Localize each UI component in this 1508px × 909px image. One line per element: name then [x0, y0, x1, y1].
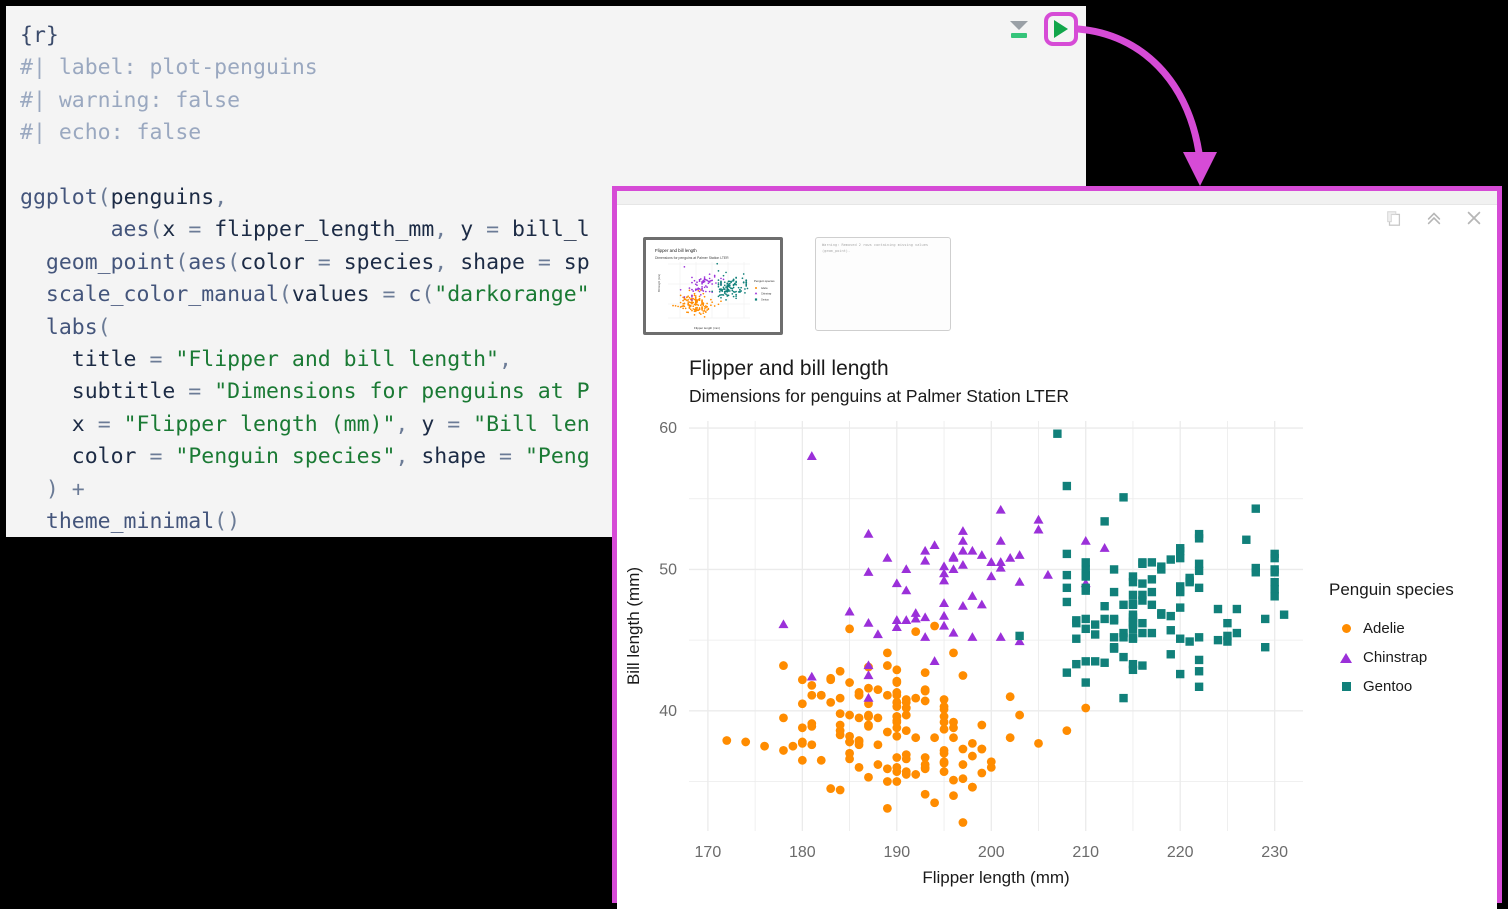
viewer-window-controls — [1385, 209, 1483, 227]
legend-item-gentoo: Gentoo — [1329, 672, 1454, 701]
legend-label-chinstrap: Chinstrap — [1363, 649, 1427, 666]
viewer-top-strip — [617, 191, 1497, 205]
run-above-triangle — [1010, 21, 1028, 30]
viewer-body: Flipper and bill length Dimensions for p… — [617, 205, 1497, 909]
chinstrap-triangle-icon — [1329, 653, 1363, 663]
plot-thumbnail[interactable]: Flipper and bill length Dimensions for p… — [643, 237, 783, 335]
svg-text:Flipper length (mm): Flipper length (mm) — [694, 326, 720, 330]
plot-thumbnail-image: Flipper and bill length Dimensions for p… — [646, 240, 780, 332]
play-icon — [1054, 20, 1068, 38]
svg-text:Adelie: Adelie — [761, 287, 768, 290]
popout-icon[interactable] — [1385, 209, 1403, 227]
svg-text:210: 210 — [1072, 844, 1099, 861]
legend-item-chinstrap: Chinstrap — [1329, 643, 1454, 672]
adelie-circle-icon — [1329, 624, 1363, 633]
svg-text:230: 230 — [1261, 844, 1288, 861]
legend-title: Penguin species — [1329, 580, 1454, 600]
legend-item-adelie: Adelie — [1329, 614, 1454, 643]
screen-root: {r} #| label: plot-penguins #| warning: … — [0, 0, 1508, 909]
svg-text:200: 200 — [978, 844, 1005, 861]
warning-output-thumbnail[interactable]: Warning: Removed 2 rows containing missi… — [815, 237, 951, 331]
warning-text: Warning: Removed 2 rows containing missi… — [822, 243, 928, 253]
legend-label-adelie: Adelie — [1363, 620, 1405, 637]
collapse-chevron-up-icon[interactable] — [1425, 209, 1443, 227]
output-viewer-panel[interactable]: Flipper and bill length Dimensions for p… — [612, 186, 1502, 903]
run-above-bar — [1011, 33, 1027, 38]
run-current-chunk-button[interactable] — [1044, 12, 1078, 46]
svg-text:60: 60 — [659, 420, 677, 437]
scatter-plot-svg: 405060170180190200210220230Flipper lengt… — [617, 413, 1317, 893]
svg-text:Gentoo: Gentoo — [761, 299, 770, 302]
svg-text:Penguin species: Penguin species — [754, 279, 775, 283]
plot-title: Flipper and bill length — [689, 357, 889, 381]
plot-legend: Penguin species Adelie Chinstrap Gentoo — [1329, 580, 1454, 701]
svg-text:Dimensions for penguins at Pal: Dimensions for penguins at Palmer Statio… — [655, 256, 729, 260]
output-thumbnail-strip: Flipper and bill length Dimensions for p… — [643, 237, 951, 335]
run-all-chunks-above-icon[interactable] — [1008, 18, 1030, 40]
svg-text:Bill length (mm): Bill length (mm) — [624, 567, 643, 685]
svg-text:Bill length (mm): Bill length (mm) — [657, 274, 661, 292]
svg-text:Flipper length (mm): Flipper length (mm) — [922, 868, 1069, 887]
svg-text:180: 180 — [789, 844, 816, 861]
plot-subtitle: Dimensions for penguins at Palmer Statio… — [689, 386, 1069, 407]
legend-label-gentoo: Gentoo — [1363, 678, 1412, 695]
chunk-toolbar — [1008, 14, 1078, 44]
svg-text:220: 220 — [1167, 844, 1194, 861]
svg-text:190: 190 — [883, 844, 910, 861]
svg-text:170: 170 — [695, 844, 722, 861]
svg-text:Flipper and bill length: Flipper and bill length — [655, 248, 697, 253]
svg-text:50: 50 — [659, 561, 677, 578]
plot-canvas: 405060170180190200210220230Flipper lengt… — [617, 413, 1317, 898]
gentoo-square-icon — [1329, 682, 1363, 691]
svg-text:Chinstrap: Chinstrap — [761, 293, 772, 296]
close-icon[interactable] — [1465, 209, 1483, 227]
svg-text:40: 40 — [659, 703, 677, 720]
